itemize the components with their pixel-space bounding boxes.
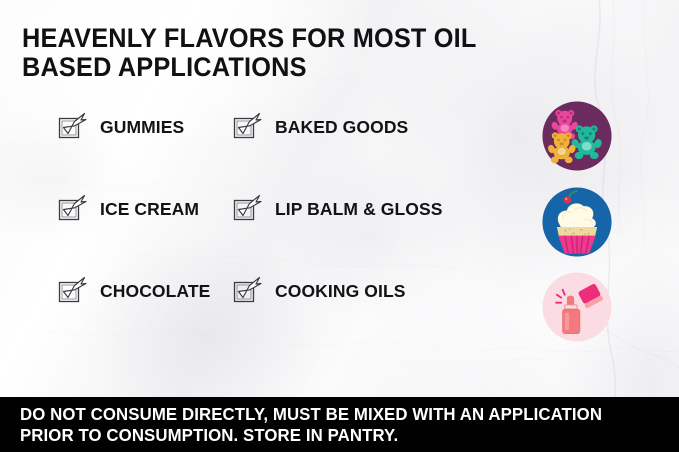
checklist-row: ICE CREAM LIP BALM & GLOSS: [0, 186, 500, 268]
product-circle-cooking-oils: [541, 271, 613, 343]
flavor-bottle-icon: [541, 271, 613, 343]
warning-banner-line-1: DO NOT CONSUME DIRECTLY, MUST BE MIXED W…: [20, 404, 653, 425]
checked-checkbox-icon: [57, 194, 89, 224]
checklist-item-label: CHOCOLATE: [100, 281, 210, 302]
checklist-item-ice-cream[interactable]: ICE CREAM: [57, 186, 199, 232]
product-illustrations: [509, 0, 679, 400]
page-title: HEAVENLY FLAVORS FOR MOST OIL BASED APPL…: [22, 24, 542, 82]
product-circle-gummies: [541, 100, 613, 172]
checked-checkbox-icon: [57, 276, 89, 306]
checklist-item-baked-goods[interactable]: BAKED GOODS: [232, 104, 408, 150]
title-line-2: BASED APPLICATIONS: [22, 53, 519, 82]
warning-banner: DO NOT CONSUME DIRECTLY, MUST BE MIXED W…: [0, 397, 679, 452]
checked-checkbox-icon: [232, 276, 264, 306]
title-line-1: HEAVENLY FLAVORS FOR MOST OIL: [22, 24, 519, 53]
checked-checkbox-icon: [232, 112, 264, 142]
checked-checkbox-icon: [232, 194, 264, 224]
checklist-item-cooking-oils[interactable]: COOKING OILS: [232, 268, 406, 314]
cupcake-icon: [541, 186, 613, 258]
checked-checkbox-icon: [57, 112, 89, 142]
checklist-item-label: BAKED GOODS: [275, 117, 408, 138]
checklist-item-label: COOKING OILS: [275, 281, 406, 302]
checklist-item-label: LIP BALM & GLOSS: [275, 199, 443, 220]
warning-banner-line-2: PRIOR TO CONSUMPTION. STORE IN PANTRY.: [20, 425, 653, 446]
checklist-item-label: ICE CREAM: [100, 199, 199, 220]
flavor-applications-infographic: HEAVENLY FLAVORS FOR MOST OIL BASED APPL…: [0, 0, 679, 452]
checklist-row: GUMMIES BAKED GOODS: [0, 104, 500, 186]
checklist-item-chocolate[interactable]: CHOCOLATE: [57, 268, 210, 314]
checklist-row: CHOCOLATE COOKING OILS: [0, 268, 500, 350]
checklist-item-label: GUMMIES: [100, 117, 184, 138]
checklist-item-lip-balm-gloss[interactable]: LIP BALM & GLOSS: [232, 186, 443, 232]
product-circle-baked-goods: [541, 186, 613, 258]
checklist-item-gummies[interactable]: GUMMIES: [57, 104, 184, 150]
gummy-bears-icon: [541, 100, 613, 172]
applications-checklist: GUMMIES BAKED GOODS ICE CREAM: [0, 104, 500, 350]
